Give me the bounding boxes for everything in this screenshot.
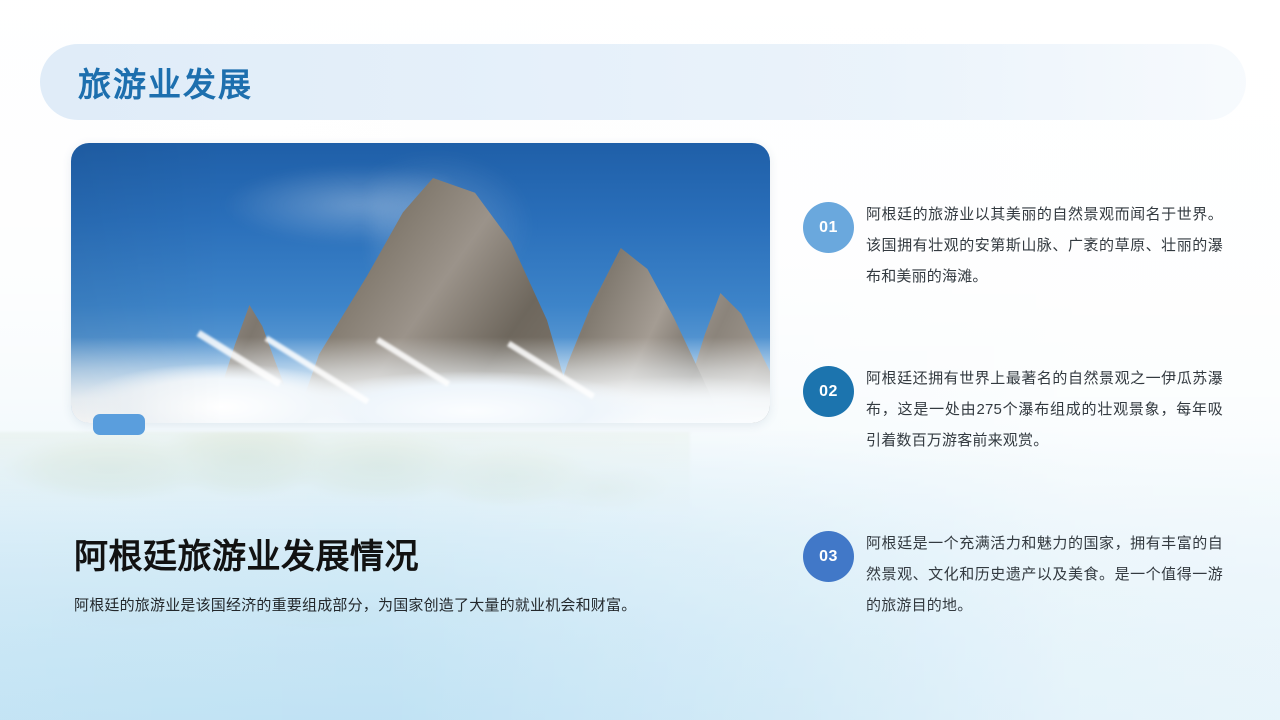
hero-photo [71, 143, 770, 423]
item-number-badge: 02 [803, 366, 854, 417]
item-number-badge: 01 [803, 202, 854, 253]
photo-edge-shade [71, 143, 770, 423]
lead-subtitle: 阿根廷的旅游业是该国经济的重要组成部分，为国家创造了大量的就业机会和财富。 [74, 594, 636, 615]
list-item: 02 阿根廷还拥有世界上最著名的自然景观之一伊瓜苏瀑布，这是一处由275个瀑布组… [803, 363, 1223, 456]
item-text: 阿根廷是一个充满活力和魅力的国家，拥有丰富的自然景观、文化和历史遗产以及美食。是… [866, 528, 1223, 621]
item-text: 阿根廷还拥有世界上最著名的自然景观之一伊瓜苏瀑布，这是一处由275个瀑布组成的壮… [866, 363, 1223, 456]
list-item: 01 阿根廷的旅游业以其美丽的自然景观而闻名于世界。该国拥有壮观的安第斯山脉、广… [803, 199, 1223, 292]
page-title: 旅游业发展 [78, 44, 253, 120]
slide-canvas: 旅游业发展 阿根廷旅游业发展情况 阿根廷的旅游业是该国经济的重要组成部分，为国家… [0, 0, 1280, 720]
item-text: 阿根廷的旅游业以其美丽的自然景观而闻名于世界。该国拥有壮观的安第斯山脉、广袤的草… [866, 199, 1223, 292]
accent-bar [93, 414, 145, 435]
lead-heading: 阿根廷旅游业发展情况 [74, 529, 419, 578]
list-item: 03 阿根廷是一个充满活力和魅力的国家，拥有丰富的自然景观、文化和历史遗产以及美… [803, 528, 1223, 621]
item-number-badge: 03 [803, 531, 854, 582]
